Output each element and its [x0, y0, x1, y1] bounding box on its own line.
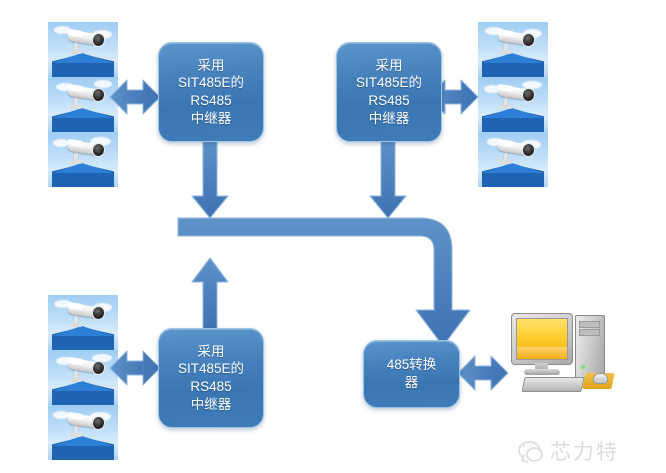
- node-label-line: 器: [405, 374, 419, 392]
- node-label-line: SIT485E的: [178, 360, 244, 378]
- node-label-line: SIT485E的: [356, 74, 422, 92]
- arrow-repeater-tl-to-bus: [192, 138, 228, 218]
- node-label-line: 采用: [198, 343, 225, 361]
- arrow-converter-to-computer: [458, 356, 508, 390]
- node-label-line: RS485: [368, 92, 409, 110]
- node-repeater-top-left[interactable]: 采用 SIT485E的 RS485 中继器: [158, 42, 264, 142]
- node-485-converter[interactable]: 485转换 器: [363, 340, 460, 408]
- arrow-repeater-bl-to-bus: [192, 258, 228, 330]
- node-label-line: 中继器: [191, 396, 232, 414]
- node-label-line: 中继器: [191, 110, 232, 128]
- node-label-line: 采用: [198, 57, 225, 75]
- node-label-line: 采用: [376, 57, 403, 75]
- node-label-line: SIT485E的: [178, 74, 244, 92]
- arrow-repeater-tr-to-bus: [370, 138, 406, 218]
- node-label-line: RS485: [190, 378, 231, 396]
- diagram-canvas: 采用 SIT485E的 RS485 中继器 采用 SIT485E的 RS485 …: [0, 0, 666, 473]
- node-label-line: 中继器: [369, 110, 410, 128]
- node-repeater-bottom-left[interactable]: 采用 SIT485E的 RS485 中继器: [158, 328, 264, 428]
- arrow-cameras-bl-to-repeater: [110, 351, 160, 385]
- wechat-icon: [518, 441, 543, 462]
- watermark-text: 芯力特: [550, 436, 619, 466]
- watermark: 芯力特: [518, 436, 619, 466]
- node-label-line: RS485: [190, 92, 231, 110]
- arrow-cameras-tl-to-repeater: [110, 80, 160, 114]
- node-repeater-top-right[interactable]: 采用 SIT485E的 RS485 中继器: [336, 42, 442, 142]
- node-label-line: 485转换: [387, 356, 437, 374]
- connector-layer: [0, 0, 666, 473]
